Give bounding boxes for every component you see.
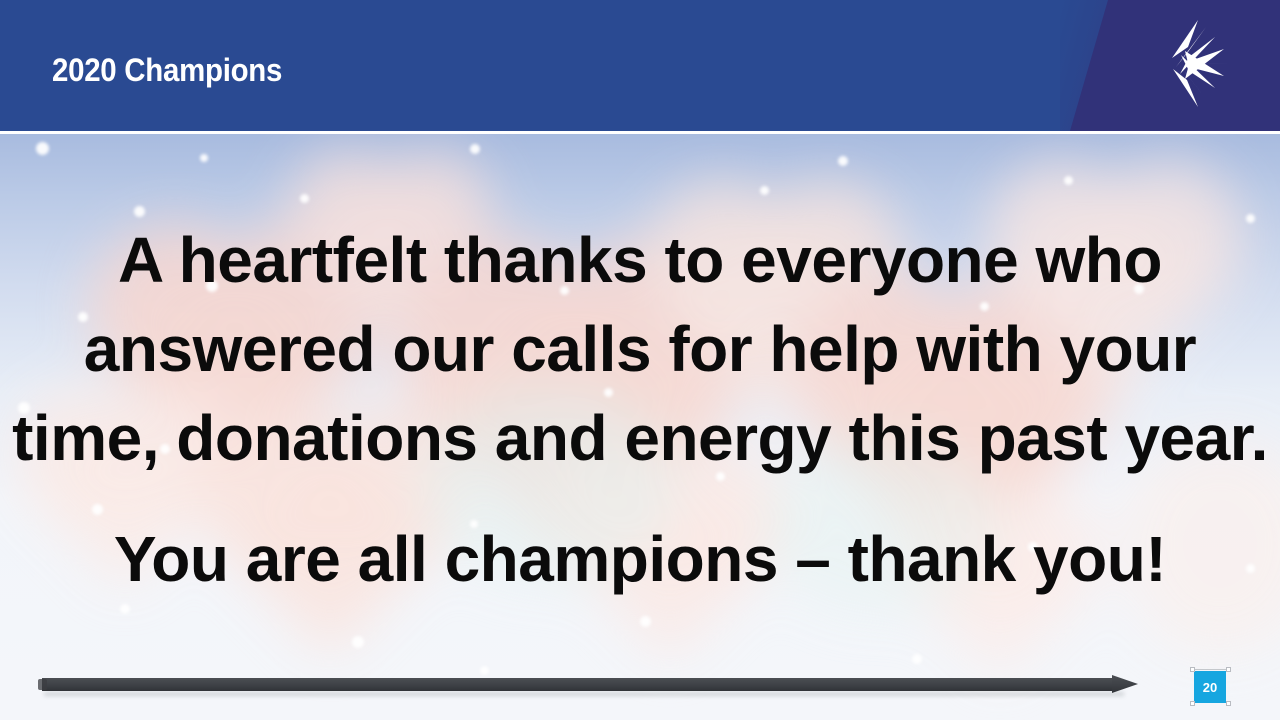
body-line-3: time, donations and energy this past yea… xyxy=(0,394,1280,483)
arrow-head-icon xyxy=(1112,675,1138,693)
fan-sunburst-logo xyxy=(1158,14,1254,114)
timeline-arrow-bar[interactable] xyxy=(42,675,1138,693)
selection-handle-top-right[interactable] xyxy=(1226,667,1231,672)
selection-outline xyxy=(1193,669,1227,670)
page-number-badge[interactable]: 20 xyxy=(1194,671,1226,703)
body-line-2: answered our calls for help with your xyxy=(0,305,1280,394)
arrow-bar-shadow xyxy=(44,692,1124,696)
selection-handle-bottom-right[interactable] xyxy=(1226,701,1231,706)
presentation-slide: 2020 Champions xyxy=(0,0,1280,720)
selection-handle-bottom-left[interactable] xyxy=(1190,701,1195,706)
body-line-1: A heartfelt thanks to everyone who xyxy=(0,216,1280,305)
arrow-bar-body xyxy=(42,678,1118,691)
arrow-bar-left-cap xyxy=(38,679,47,690)
page-title: 2020 Champions xyxy=(52,50,282,90)
body-line-4: You are all champions – thank you! xyxy=(0,515,1280,604)
selection-handle-top-left[interactable] xyxy=(1190,667,1195,672)
slide-body-text: A heartfelt thanks to everyone who answe… xyxy=(0,216,1280,604)
fan-sunburst-icon xyxy=(1158,14,1254,114)
